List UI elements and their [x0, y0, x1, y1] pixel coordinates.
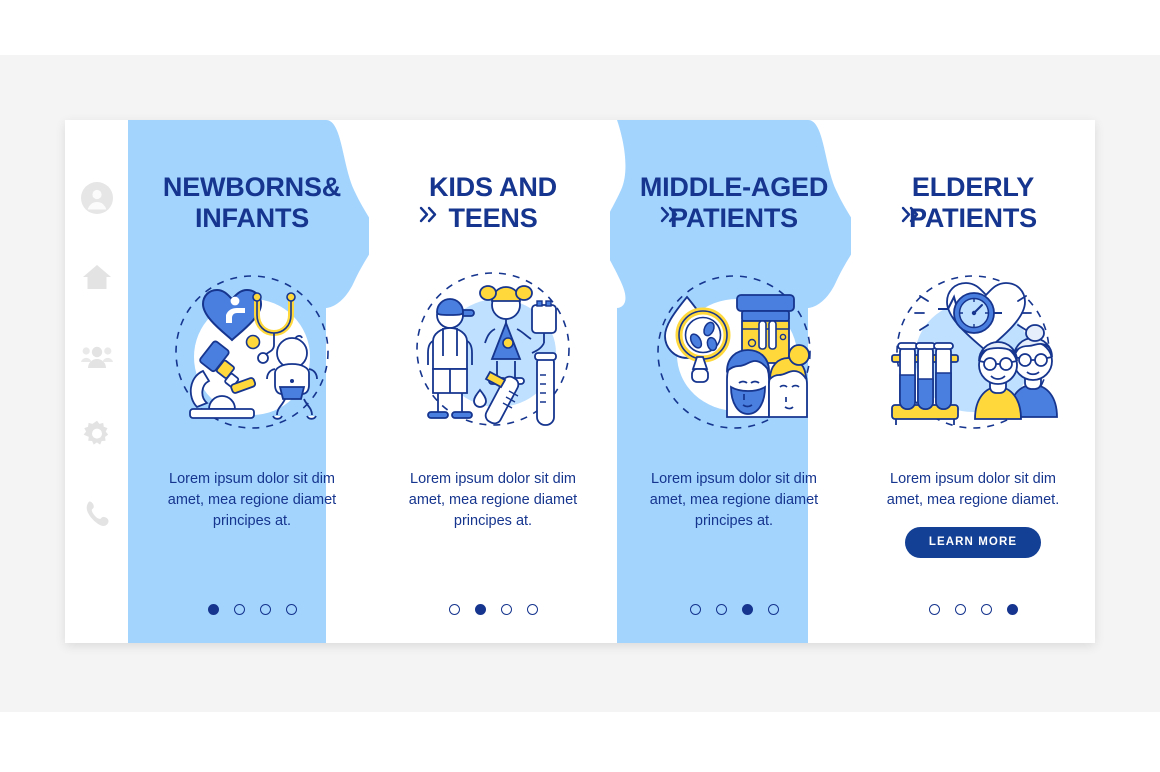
sidebar-nav — [65, 120, 128, 643]
panel-middle-aged-patients[interactable]: MIDDLE-AGEDPATIENTS — [610, 120, 858, 643]
pagination-dot[interactable] — [981, 604, 992, 615]
panel-description: Lorem ipsum dolor sit dim amet, mea regi… — [878, 469, 1068, 511]
panel-title: MIDDLE-AGEDPATIENTS — [627, 172, 842, 235]
people-group-icon[interactable] — [81, 340, 113, 372]
pagination-dot[interactable] — [475, 604, 486, 615]
pagination-dots[interactable] — [128, 604, 376, 615]
pagination-dot[interactable] — [690, 604, 701, 615]
pagination-dot[interactable] — [208, 604, 219, 615]
pagination-dot[interactable] — [234, 604, 245, 615]
pagination-dot[interactable] — [742, 604, 753, 615]
double-chevron-right-icon[interactable] — [419, 206, 438, 223]
pagination-dot[interactable] — [929, 604, 940, 615]
pagination-dots[interactable] — [851, 604, 1095, 615]
pagination-dot[interactable] — [501, 604, 512, 615]
heart-monitor-test-tubes-elderly-couple-illustration — [878, 257, 1068, 447]
pagination-dot[interactable] — [1007, 604, 1018, 615]
gear-icon[interactable] — [81, 419, 113, 451]
panel-kids-and-teens[interactable]: KIDS ANDTEENS — [369, 120, 617, 643]
user-avatar-icon[interactable] — [81, 182, 113, 214]
pagination-dots[interactable] — [610, 604, 858, 615]
panel-title: ELDERLYPATIENTS — [866, 172, 1081, 235]
panel-description: Lorem ipsum dolor sit dim amet, mea regi… — [157, 469, 347, 532]
boy-girl-test-tubes-iv-bag-illustration — [398, 257, 588, 447]
double-chevron-right-icon[interactable] — [901, 206, 920, 223]
phone-icon[interactable] — [81, 498, 113, 530]
onboarding-card: NEWBORNS&INFANTS — [65, 120, 1095, 643]
pagination-dots[interactable] — [369, 604, 617, 615]
microscope-heart-baby-stethoscope-illustration — [157, 257, 347, 447]
learn-more-button[interactable]: LEARN MORE — [905, 527, 1041, 558]
home-icon[interactable] — [81, 261, 113, 293]
pagination-dot[interactable] — [449, 604, 460, 615]
double-chevron-right-icon[interactable] — [660, 206, 679, 223]
panel-title: NEWBORNS&INFANTS — [145, 172, 360, 235]
panel-description: Lorem ipsum dolor sit dim amet, mea regi… — [639, 469, 829, 532]
panel-newborns-infants[interactable]: NEWBORNS&INFANTS — [128, 120, 376, 643]
pagination-dot[interactable] — [527, 604, 538, 615]
pagination-dot[interactable] — [768, 604, 779, 615]
panel-title: KIDS ANDTEENS — [386, 172, 601, 235]
screenshot-stage: NEWBORNS&INFANTS — [0, 0, 1160, 772]
pagination-dot[interactable] — [260, 604, 271, 615]
pagination-dot[interactable] — [955, 604, 966, 615]
panel-elderly-patients[interactable]: ELDERLYPATIENTS — [851, 120, 1095, 643]
pagination-dot[interactable] — [286, 604, 297, 615]
panel-description: Lorem ipsum dolor sit dim amet, mea regi… — [398, 469, 588, 532]
panel-carousel: NEWBORNS&INFANTS — [128, 120, 1095, 643]
pagination-dot[interactable] — [716, 604, 727, 615]
urine-sample-magnifier-couple-illustration — [639, 257, 829, 447]
